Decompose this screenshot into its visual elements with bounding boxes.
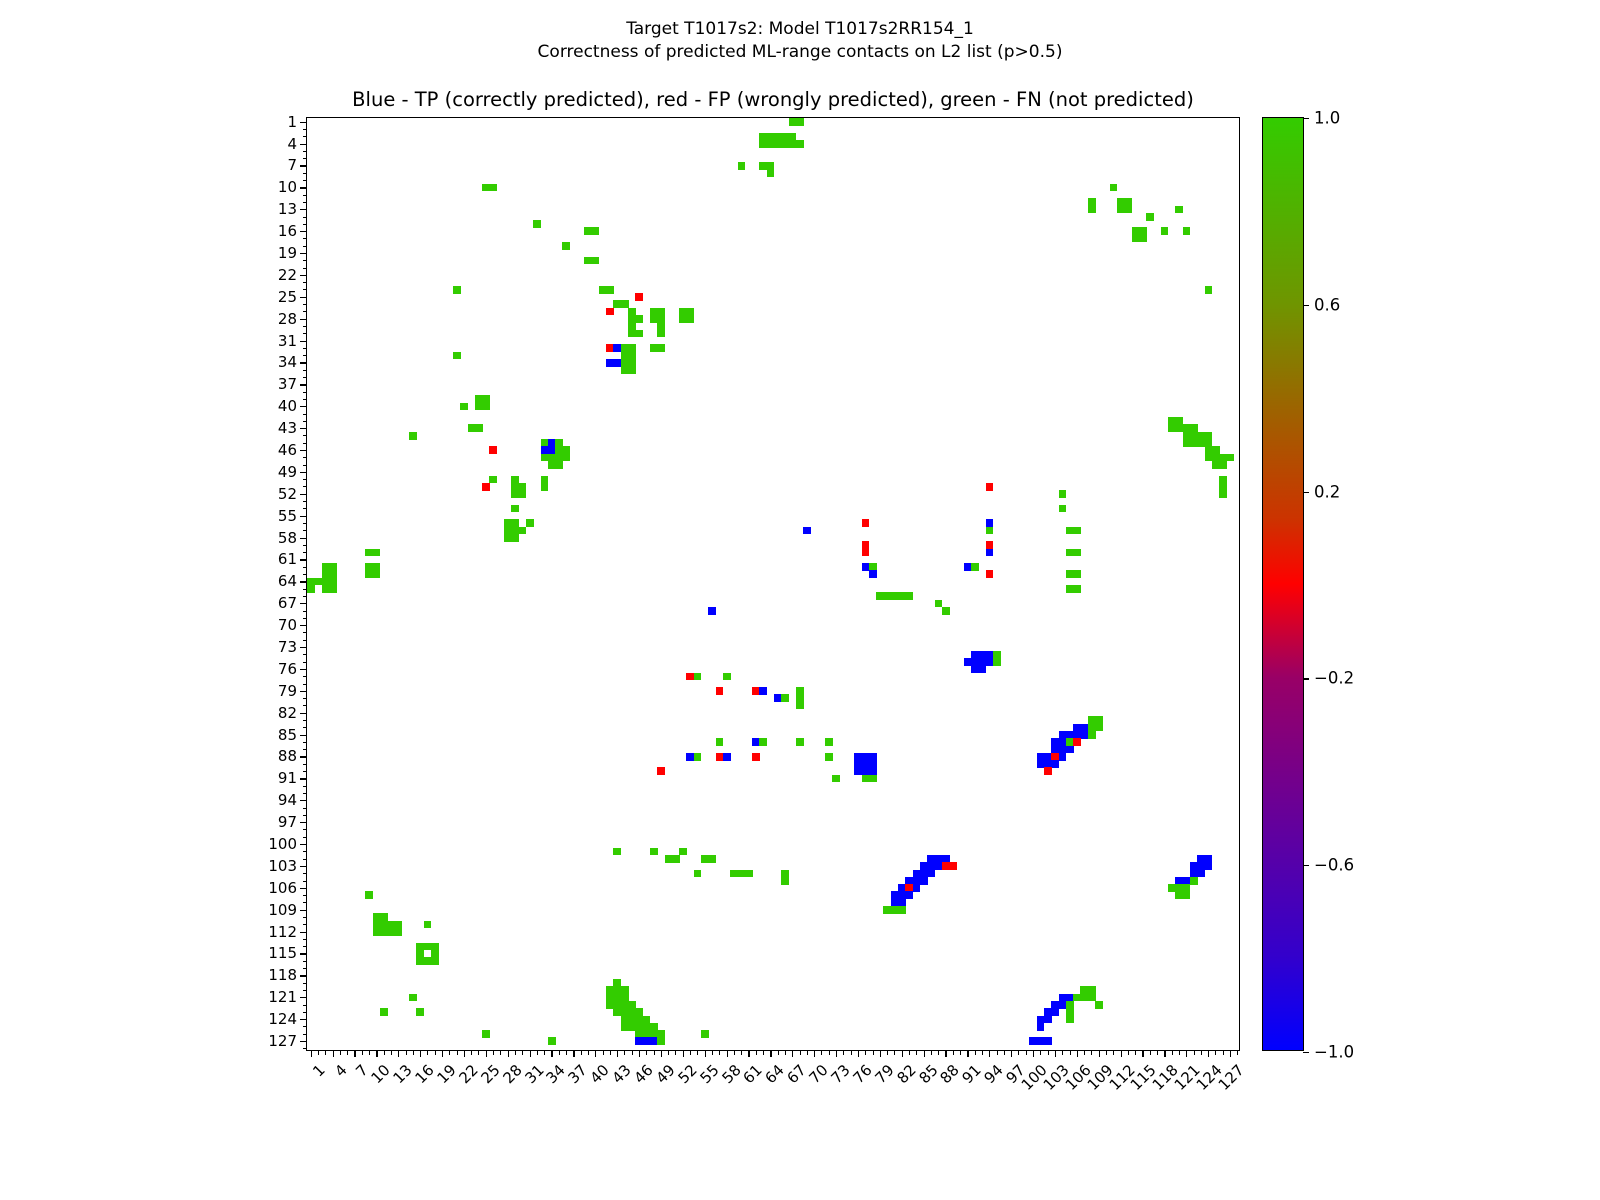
y-tick: [303, 399, 308, 400]
y-tick: [303, 662, 308, 663]
y-tick-label: 118: [268, 966, 297, 984]
x-tick: [1070, 1050, 1071, 1055]
cell-fn: [971, 563, 979, 571]
cell-fn: [548, 1037, 556, 1045]
cell-fn: [307, 585, 315, 593]
cell-fn: [672, 855, 680, 863]
x-tick: [1186, 1050, 1187, 1057]
cell-fn: [416, 1008, 424, 1016]
cell-fn: [1183, 891, 1191, 899]
y-tick: [303, 523, 308, 524]
x-tick: [435, 1050, 436, 1055]
y-tick: [303, 632, 308, 633]
cell-tp: [1066, 746, 1074, 754]
cell-fn: [1226, 454, 1234, 462]
y-tick: [303, 654, 308, 655]
y-tick: [300, 778, 307, 779]
x-tick: [800, 1050, 801, 1055]
y-tick: [300, 932, 307, 933]
contact-map-plot-area[interactable]: 1144771010131316161919222225252828313134…: [306, 117, 1240, 1051]
y-tick: [300, 669, 307, 670]
y-tick: [303, 486, 308, 487]
colorbar-tick-label: −0.2: [1314, 669, 1354, 688]
x-tick: [1091, 1050, 1092, 1055]
x-tick: [1077, 1050, 1078, 1057]
x-tick-label: 4: [331, 1061, 350, 1080]
cell-tp: [1051, 1008, 1059, 1016]
x-tick: [894, 1050, 895, 1055]
x-tick: [617, 1050, 618, 1057]
colorbar-tick-label: 0.2: [1314, 482, 1340, 501]
y-tick: [300, 516, 307, 517]
y-tick: [300, 122, 307, 123]
x-tick: [1084, 1050, 1085, 1055]
cell-fn: [1066, 1016, 1074, 1024]
cell-fn: [511, 505, 519, 513]
y-tick: [303, 508, 308, 509]
cell-fn: [1205, 286, 1213, 294]
cell-fn: [482, 1030, 490, 1038]
y-tick-label: 19: [278, 244, 297, 262]
y-tick: [303, 771, 308, 772]
y-tick-label: 85: [278, 726, 297, 744]
cell-tp: [1197, 870, 1205, 878]
y-tick-label: 124: [268, 1010, 297, 1028]
cell-tp: [1044, 1016, 1052, 1024]
y-tick: [300, 581, 307, 582]
y-tick: [300, 735, 307, 736]
y-tick: [303, 180, 308, 181]
cell-fn: [1095, 1001, 1103, 1009]
x-tick: [1142, 1050, 1143, 1057]
y-tick: [303, 195, 308, 196]
y-tick: [300, 625, 307, 626]
colorbar-tick: [1303, 678, 1309, 679]
y-tick: [303, 990, 308, 991]
x-tick: [1106, 1050, 1107, 1055]
y-tick: [303, 552, 308, 553]
cell-tp: [920, 877, 928, 885]
y-tick-label: 127: [268, 1032, 297, 1050]
x-tick: [427, 1050, 428, 1055]
x-tick: [975, 1050, 976, 1055]
colorbar-tick: [1303, 1052, 1309, 1053]
x-tick: [457, 1050, 458, 1055]
y-tick: [300, 450, 307, 451]
x-tick: [500, 1050, 501, 1055]
colorbar-tick-label: 1.0: [1314, 109, 1340, 128]
suptitle-line-2: Correctness of predicted ML-range contac…: [0, 41, 1600, 64]
cell-fp: [752, 753, 760, 761]
y-tick: [303, 414, 308, 415]
x-tick: [624, 1050, 625, 1055]
x-tick: [683, 1050, 684, 1057]
y-tick: [303, 158, 308, 159]
y-tick-label: 16: [278, 222, 297, 240]
x-tick: [1237, 1050, 1238, 1055]
cell-tp: [723, 753, 731, 761]
x-tick: [1135, 1050, 1136, 1055]
x-tick: [603, 1050, 604, 1055]
y-tick: [303, 786, 308, 787]
x-tick: [354, 1050, 355, 1057]
y-tick-label: 97: [278, 813, 297, 831]
y-tick: [303, 268, 308, 269]
cell-fn: [1146, 213, 1154, 221]
cell-fn: [679, 848, 687, 856]
y-tick: [303, 749, 308, 750]
y-tick-label: 112: [268, 923, 297, 941]
cell-fn: [1073, 570, 1081, 578]
x-tick: [493, 1050, 494, 1055]
x-tick: [792, 1050, 793, 1057]
y-tick-label: 10: [278, 178, 297, 196]
y-tick-label: 43: [278, 419, 297, 437]
y-tick: [300, 822, 307, 823]
x-tick: [858, 1050, 859, 1057]
y-tick-label: 109: [268, 901, 297, 919]
cell-fn: [694, 673, 702, 681]
y-tick-label: 88: [278, 747, 297, 765]
cell-fn: [1175, 206, 1183, 214]
y-tick: [303, 348, 308, 349]
y-tick: [303, 705, 308, 706]
cell-fn: [380, 1008, 388, 1016]
x-tick: [413, 1050, 414, 1055]
y-tick: [303, 224, 308, 225]
y-tick: [303, 282, 308, 283]
x-tick: [967, 1050, 968, 1057]
x-tick: [675, 1050, 676, 1055]
cell-fn: [1095, 724, 1103, 732]
y-tick: [303, 793, 308, 794]
cell-fn: [489, 184, 497, 192]
y-tick: [303, 377, 308, 378]
y-tick-label: 76: [278, 660, 297, 678]
cell-fn: [796, 140, 804, 148]
cell-fp: [862, 519, 870, 527]
cell-fn: [373, 549, 381, 557]
x-tick: [741, 1050, 742, 1055]
y-tick-label: 115: [268, 944, 297, 962]
cell-fp: [1044, 767, 1052, 775]
y-tick-label: 31: [278, 332, 297, 350]
cell-fn: [898, 906, 906, 914]
cell-fn: [723, 673, 731, 681]
cell-tp: [869, 570, 877, 578]
y-tick: [303, 311, 308, 312]
cell-tp: [927, 870, 935, 878]
cell-fp: [635, 293, 643, 301]
cell-fn: [716, 738, 724, 746]
y-tick: [303, 961, 308, 962]
x-tick: [530, 1050, 531, 1057]
y-tick: [303, 611, 308, 612]
y-tick: [303, 355, 308, 356]
cell-fn: [482, 403, 490, 411]
y-tick-label: 37: [278, 375, 297, 393]
cell-fn: [555, 461, 563, 469]
y-tick: [300, 253, 307, 254]
y-tick: [303, 1012, 308, 1013]
cell-fn: [1183, 227, 1191, 235]
cell-fn: [657, 1037, 665, 1045]
x-tick: [1194, 1050, 1195, 1055]
x-tick: [1040, 1050, 1041, 1055]
x-tick: [690, 1050, 691, 1055]
y-tick: [300, 297, 307, 298]
y-tick: [303, 238, 308, 239]
y-tick: [303, 151, 308, 152]
cell-tp: [978, 665, 986, 673]
cell-fn: [1073, 585, 1081, 593]
cell-fn: [1073, 527, 1081, 535]
y-tick: [300, 341, 307, 342]
x-tick: [1230, 1050, 1231, 1057]
x-tick: [712, 1050, 713, 1055]
x-tick: [522, 1050, 523, 1055]
y-tick: [303, 859, 308, 860]
y-tick: [300, 231, 307, 232]
y-tick: [303, 808, 308, 809]
cell-fn: [657, 344, 665, 352]
axes-title-legend: Blue - TP (correctly predicted), red - F…: [306, 88, 1240, 111]
cell-fn: [1110, 184, 1118, 192]
x-tick: [471, 1050, 472, 1055]
y-tick: [303, 1026, 308, 1027]
y-tick-label: 55: [278, 507, 297, 525]
cell-fn: [738, 162, 746, 170]
cell-fp: [862, 549, 870, 557]
x-tick: [960, 1050, 961, 1055]
y-tick-label: 49: [278, 463, 297, 481]
x-tick: [406, 1050, 407, 1055]
y-tick-label: 52: [278, 485, 297, 503]
cell-fn: [1059, 490, 1067, 498]
y-tick: [300, 910, 307, 911]
y-tick: [300, 538, 307, 539]
x-tick: [376, 1050, 377, 1057]
cell-fn: [635, 315, 643, 323]
x-tick: [770, 1050, 771, 1057]
x-tick: [697, 1050, 698, 1055]
y-tick: [300, 472, 307, 473]
cell-fn: [986, 527, 994, 535]
figure-canvas: Target T1017s2: Model T1017s2RR154_1 Cor…: [0, 0, 1600, 1200]
y-tick: [303, 370, 308, 371]
cell-fn: [541, 483, 549, 491]
x-tick: [763, 1050, 764, 1055]
cell-fp: [986, 483, 994, 491]
y-tick: [303, 946, 308, 947]
x-tick: [442, 1050, 443, 1057]
y-tick: [300, 800, 307, 801]
y-tick-label: 13: [278, 200, 297, 218]
y-tick-label: 67: [278, 594, 297, 612]
y-tick: [303, 902, 308, 903]
suptitle-line-1: Target T1017s2: Model T1017s2RR154_1: [0, 18, 1600, 41]
cell-fp: [489, 446, 497, 454]
y-tick: [303, 501, 308, 502]
cell-fn: [1219, 490, 1227, 498]
cell-fn: [781, 694, 789, 702]
x-tick: [865, 1050, 866, 1055]
y-tick: [303, 129, 308, 130]
x-tick: [807, 1050, 808, 1055]
y-tick: [303, 217, 308, 218]
x-tick-label: 1: [309, 1061, 328, 1080]
x-tick: [610, 1050, 611, 1055]
x-tick: [391, 1050, 392, 1055]
y-tick: [300, 209, 307, 210]
y-tick: [303, 1048, 308, 1049]
cell-fn: [562, 454, 570, 462]
y-tick-label: 1: [287, 113, 297, 131]
y-tick: [303, 392, 308, 393]
x-tick-label: 7: [353, 1061, 372, 1080]
cell-fn: [409, 994, 417, 1002]
y-tick: [303, 851, 308, 852]
y-tick: [303, 640, 308, 641]
x-tick: [1099, 1050, 1100, 1057]
cell-fn: [832, 775, 840, 783]
cell-fn: [905, 592, 913, 600]
y-tick: [303, 873, 308, 874]
y-tick-label: 25: [278, 288, 297, 306]
cell-fn: [1139, 235, 1147, 243]
x-tick: [1048, 1050, 1049, 1055]
x-tick: [734, 1050, 735, 1055]
y-tick-label: 28: [278, 310, 297, 328]
y-tick: [303, 136, 308, 137]
y-tick: [300, 691, 307, 692]
cell-tp: [1044, 1037, 1052, 1045]
cell-tp: [1037, 1023, 1045, 1031]
x-tick: [478, 1050, 479, 1055]
y-tick: [300, 953, 307, 954]
y-tick: [303, 1005, 308, 1006]
y-tick: [303, 421, 308, 422]
y-tick-label: 103: [268, 857, 297, 875]
x-tick: [1033, 1050, 1034, 1057]
x-tick: [873, 1050, 874, 1055]
y-tick: [300, 406, 307, 407]
y-tick: [300, 888, 307, 889]
cell-fn: [694, 870, 702, 878]
y-tick-label: 82: [278, 704, 297, 722]
cell-fn: [453, 352, 461, 360]
y-tick: [303, 326, 308, 327]
cell-fn: [701, 1030, 709, 1038]
y-tick-label: 91: [278, 769, 297, 787]
cell-tp: [803, 527, 811, 535]
x-tick: [945, 1050, 946, 1057]
x-tick: [595, 1050, 596, 1057]
x-tick: [851, 1050, 852, 1055]
cell-fn: [796, 702, 804, 710]
cell-fp: [1073, 738, 1081, 746]
y-tick: [303, 567, 308, 568]
cell-fp: [986, 570, 994, 578]
y-tick: [303, 443, 308, 444]
y-tick: [303, 589, 308, 590]
y-tick: [303, 304, 308, 305]
cell-fn: [489, 476, 497, 484]
y-tick: [303, 837, 308, 838]
cell-fn: [767, 169, 775, 177]
x-tick: [916, 1050, 917, 1055]
y-tick-label: 61: [278, 550, 297, 568]
x-tick: [588, 1050, 589, 1055]
y-tick: [300, 559, 307, 560]
y-tick: [303, 479, 308, 480]
x-tick: [1062, 1050, 1063, 1055]
x-tick: [1011, 1050, 1012, 1057]
y-tick: [303, 457, 308, 458]
cell-fn: [533, 220, 541, 228]
y-tick: [303, 260, 308, 261]
cell-fp: [606, 308, 614, 316]
x-tick: [1208, 1050, 1209, 1057]
cell-fn: [796, 118, 804, 126]
y-tick: [303, 1034, 308, 1035]
y-tick: [303, 289, 308, 290]
cell-fn: [1088, 206, 1096, 214]
x-tick: [668, 1050, 669, 1055]
y-tick: [303, 742, 308, 743]
x-tick: [982, 1050, 983, 1055]
x-tick: [1157, 1050, 1158, 1055]
cell-tp: [759, 687, 767, 695]
x-tick: [384, 1050, 385, 1055]
cell-fn: [365, 891, 373, 899]
x-tick: [924, 1050, 925, 1057]
x-tick: [778, 1050, 779, 1055]
cell-tp: [708, 607, 716, 615]
y-tick: [303, 684, 308, 685]
y-tick-label: 73: [278, 638, 297, 656]
y-tick-label: 46: [278, 441, 297, 459]
x-tick: [887, 1050, 888, 1055]
x-tick: [1055, 1050, 1056, 1057]
y-tick-label: 100: [268, 835, 297, 853]
x-tick: [449, 1050, 450, 1055]
y-tick: [300, 975, 307, 976]
cell-fn: [686, 315, 694, 323]
y-tick: [303, 968, 308, 969]
y-tick: [300, 165, 307, 166]
cell-fn: [519, 490, 527, 498]
y-tick: [303, 829, 308, 830]
x-tick: [1018, 1050, 1019, 1055]
cell-fn: [825, 753, 833, 761]
y-tick-label: 106: [268, 879, 297, 897]
figure-suptitle: Target T1017s2: Model T1017s2RR154_1 Cor…: [0, 18, 1600, 64]
y-tick: [303, 545, 308, 546]
x-tick: [340, 1050, 341, 1055]
x-tick: [311, 1050, 312, 1057]
x-tick: [632, 1050, 633, 1055]
y-tick: [303, 881, 308, 882]
cell-tp: [905, 891, 913, 899]
cell-fn: [694, 753, 702, 761]
y-tick: [300, 144, 307, 145]
cell-fn: [475, 424, 483, 432]
x-tick: [559, 1050, 560, 1055]
x-tick: [989, 1050, 990, 1057]
x-tick: [515, 1050, 516, 1055]
y-tick: [300, 713, 307, 714]
